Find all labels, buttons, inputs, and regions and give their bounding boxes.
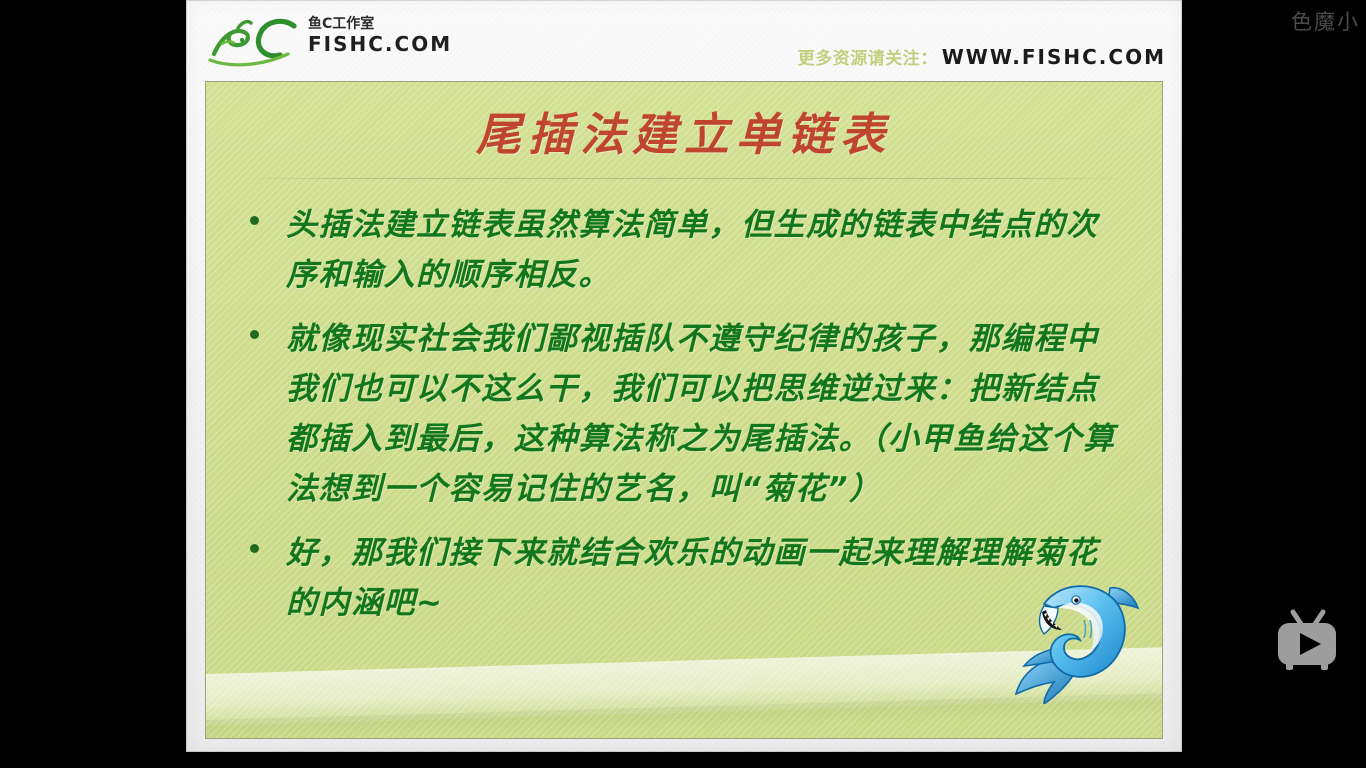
list-item: 头插法建立链表虽然算法简单，但生成的链表中结点的次序和输入的顺序相反。: [236, 200, 1128, 300]
slide-frame: 鱼C工作室 FISHC.COM 更多资源请关注：WWW.FISHC.COM 尾插…: [186, 0, 1182, 752]
header-promo: 更多资源请关注：WWW.FISHC.COM: [798, 44, 1166, 69]
video-stage: 色魔小: [0, 0, 1366, 768]
list-item: 好，那我们接下来就结合欢乐的动画一起来理解理解菊花的内涵吧~: [236, 528, 1128, 628]
bullet-dot-icon: [250, 216, 259, 225]
brand-logo-en: FISHC.COM: [308, 33, 452, 55]
brand-logo: 鱼C工作室 FISHC.COM: [204, 8, 504, 70]
bullet-text: 就像现实社会我们鄙视插队不遵守纪律的孩子，那编程中我们也可以不这么干，我们可以把…: [286, 321, 1116, 507]
bullet-list: 头插法建立链表虽然算法简单，但生成的链表中结点的次序和输入的顺序相反。 就像现实…: [236, 200, 1128, 642]
header-promo-url: WWW.FISHC.COM: [942, 45, 1166, 69]
tv-play-icon: [1268, 608, 1346, 678]
brand-logo-cn: 鱼C工作室: [308, 16, 452, 33]
bullet-text: 好，那我们接下来就结合欢乐的动画一起来理解理解菊花的内涵吧~: [286, 535, 1099, 621]
fishc-brush-logo-icon: [204, 10, 304, 68]
shark-mascot-icon: [1014, 574, 1154, 704]
slide-content-panel: 尾插法建立单链表 头插法建立链表虽然算法简单，但生成的链表中结点的次序和输入的顺…: [205, 81, 1163, 739]
corner-watermark-text: 色魔小: [1291, 6, 1360, 36]
title-divider: [250, 178, 1118, 179]
bullet-dot-icon: [250, 544, 259, 553]
page-title: 尾插法建立单链表: [206, 98, 1162, 163]
bullet-dot-icon: [250, 330, 259, 339]
header-promo-prefix: 更多资源请关注：: [798, 49, 938, 69]
list-item: 就像现实社会我们鄙视插队不遵守纪律的孩子，那编程中我们也可以不这么干，我们可以把…: [236, 314, 1128, 514]
brand-logo-text: 鱼C工作室 FISHC.COM: [308, 16, 452, 55]
slide-header: 鱼C工作室 FISHC.COM 更多资源请关注：WWW.FISHC.COM: [186, 0, 1182, 80]
bullet-text: 头插法建立链表虽然算法简单，但生成的链表中结点的次序和输入的顺序相反。: [286, 207, 1099, 293]
